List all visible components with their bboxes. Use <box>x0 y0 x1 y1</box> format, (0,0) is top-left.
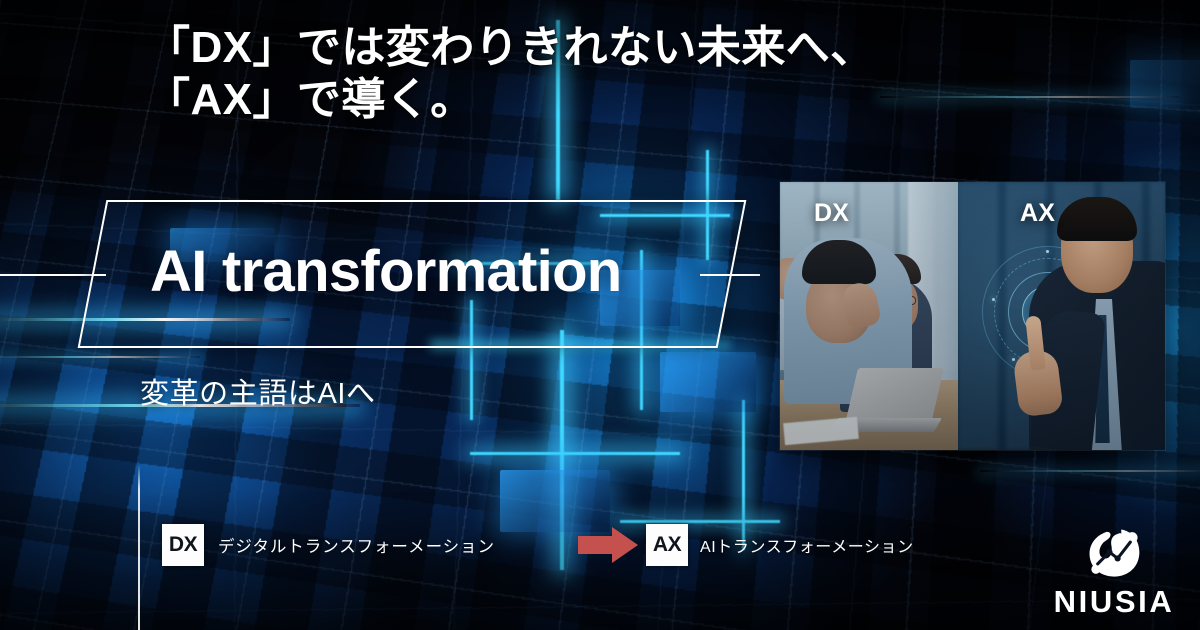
brand-lockup: NIUSIA <box>1040 524 1188 620</box>
poster-canvas: 「DX」では変わりきれない未来へ、 「AX」で導く。 AI transforma… <box>0 0 1200 630</box>
legend-row-ax: AX AIトランスフォーメーション <box>646 524 914 566</box>
headline: 「DX」では変わりきれない未来へ、 「AX」で導く。 <box>146 22 875 126</box>
dx-photo-tag: DX <box>814 199 849 228</box>
ax-badge: AX <box>646 524 688 566</box>
legend-row: DX デジタルトランスフォーメーション <box>162 524 529 566</box>
dx-label: デジタルトランスフォーメーション <box>218 533 495 557</box>
ax-photo: AI AX <box>958 182 1165 450</box>
sub-copy: 変革の主語はAIへ <box>140 370 376 412</box>
comparison-photo-panel: DX AI <box>780 182 1165 450</box>
ai-transformation-band: AI transformation <box>0 196 760 356</box>
ax-photo-tag: AX <box>1020 199 1055 228</box>
niusia-logo-icon <box>1085 524 1143 582</box>
vertical-divider <box>138 466 140 630</box>
dx-badge: DX <box>162 524 204 566</box>
dx-photo: DX <box>780 182 958 450</box>
band-rule-left <box>0 274 106 276</box>
ax-label: AIトランスフォーメーション <box>700 533 914 557</box>
band-title: AI transformation <box>150 238 730 305</box>
headline-line-1: 「DX」では変わりきれない未来へ、 <box>146 22 875 74</box>
headline-line-2: 「AX」で導く。 <box>146 74 875 126</box>
right-arrow-icon <box>578 527 638 563</box>
brand-name: NIUSIA <box>1040 584 1188 620</box>
